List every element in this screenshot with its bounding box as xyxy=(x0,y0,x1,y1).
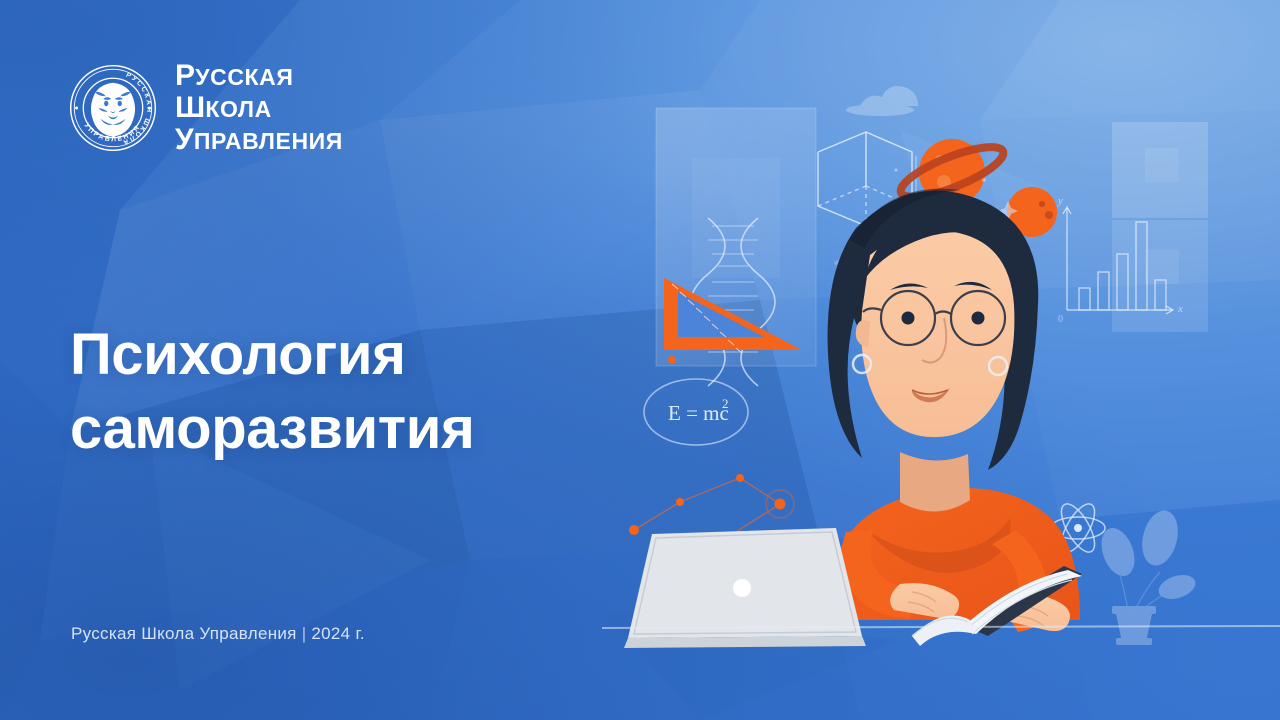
slide-footer: Русская Школа Управления|2024 г. xyxy=(71,624,365,644)
page-title-line-1: Психология xyxy=(70,322,406,387)
page-title: Психология саморазвития xyxy=(70,318,630,466)
footer-organization: Русская Школа Управления xyxy=(71,624,297,643)
formula-text: E = mc xyxy=(668,401,729,425)
brand-wordmark: РУССКАЯ ШКОЛА УПРАВЛЕНИЯ xyxy=(175,60,343,155)
brand-line-1: РУССКАЯ xyxy=(175,60,343,92)
presentation-slide: h E = mc xyxy=(0,0,1280,720)
cloud-icon xyxy=(844,86,918,116)
laptop-icon xyxy=(624,528,866,648)
brand-line-3-rest: ПРАВЛЕНИЯ xyxy=(194,128,343,154)
brand-line-2: ШКОЛА xyxy=(175,92,343,124)
formula-bubble: E = mc 2 xyxy=(644,379,748,445)
brand-line-2-rest: КОЛА xyxy=(205,96,272,122)
woman-neck xyxy=(900,452,970,512)
brand-logo[interactable]: РУССКАЯ ШКОЛА УПРАВЛЕНИЯ xyxy=(68,60,343,155)
laptop-logo xyxy=(733,579,751,597)
chart-ylabel: y xyxy=(1057,195,1063,207)
woman-face xyxy=(861,230,1014,437)
footer-year: 2024 г. xyxy=(311,624,365,643)
formula-exponent: 2 xyxy=(722,396,729,411)
footer-separator: | xyxy=(297,624,312,643)
chart-origin-label: 0 xyxy=(1058,314,1063,325)
woman-ear xyxy=(856,320,870,348)
page-title-line-2: саморазвития xyxy=(70,392,630,466)
lion-emblem-icon: РУССКАЯ ШКОЛА УПРАВЛЕНИЯ xyxy=(68,63,158,153)
illustration-woman-studying: h E = mc xyxy=(612,60,1280,660)
brand-line-3-initial: У xyxy=(175,123,194,156)
brand-line-1-rest: УССКАЯ xyxy=(195,64,293,90)
brand-line-1-initial: Р xyxy=(175,59,195,92)
chart-xlabel: x xyxy=(1177,303,1183,315)
brand-line-3: УПРАВЛЕНИЯ xyxy=(175,124,343,156)
potted-plant-icon xyxy=(1095,507,1198,645)
brand-line-2-initial: Ш xyxy=(175,91,205,124)
